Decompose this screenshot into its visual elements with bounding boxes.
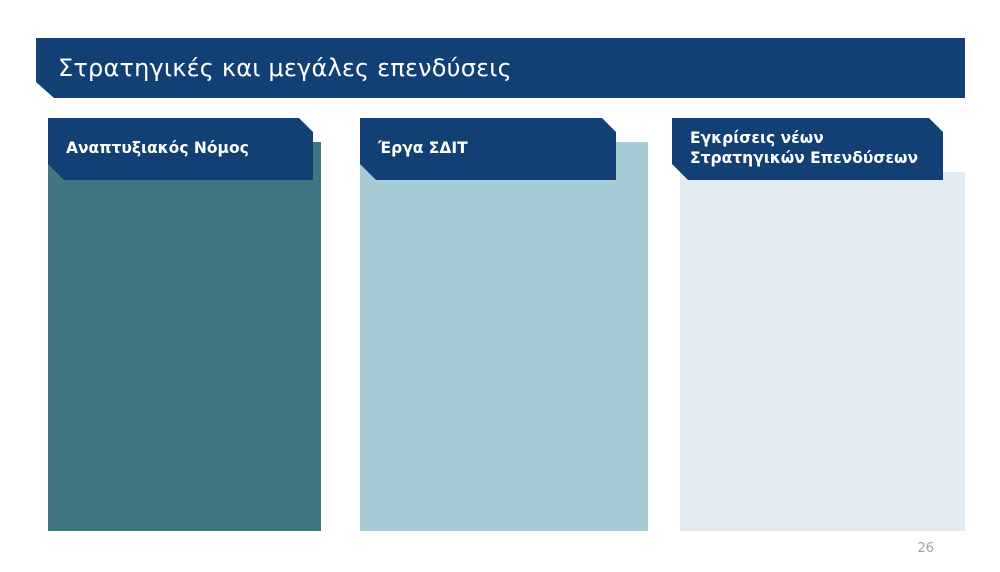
column-1-header: Αναπτυξιακός Νόμος [48, 118, 313, 180]
column-2-header-label: Έργα ΣΔΙΤ [360, 139, 482, 159]
column-anaptyxiakos-nomos: Αναπτυξιακός Νόμος Έγκριση από την ΕΕ πρ… [48, 118, 321, 531]
column-3-header-label: Εγκρίσεις νέων Στρατηγικών Επενδύσεων [672, 129, 943, 168]
column-egkriseis-stratigikon: Εγκρίσεις νέων Στρατηγικών Επενδύσεων [672, 118, 965, 531]
column-3-header: Εγκρίσεις νέων Στρατηγικών Επενδύσεων [672, 118, 943, 180]
column-erga-sdit: Έργα ΣΔΙΤ Έγκριση νέων έργων(4 έργα ύψου… [360, 118, 648, 531]
column-1-header-label: Αναπτυξιακός Νόμος [48, 139, 263, 159]
column-2-header: Έργα ΣΔΙΤ [360, 118, 616, 180]
page-title: Στρατηγικές και μεγάλες επενδύσεις [36, 54, 512, 82]
column-1-body-panel [48, 142, 321, 531]
column-3-body-panel [680, 172, 965, 531]
slide-root: Στρατηγικές και μεγάλες επενδύσεις Αναπτ… [0, 0, 1000, 572]
column-2-body-panel [360, 142, 648, 531]
slide-title-banner: Στρατηγικές και μεγάλες επενδύσεις [36, 38, 965, 98]
page-number: 26 [917, 541, 934, 556]
